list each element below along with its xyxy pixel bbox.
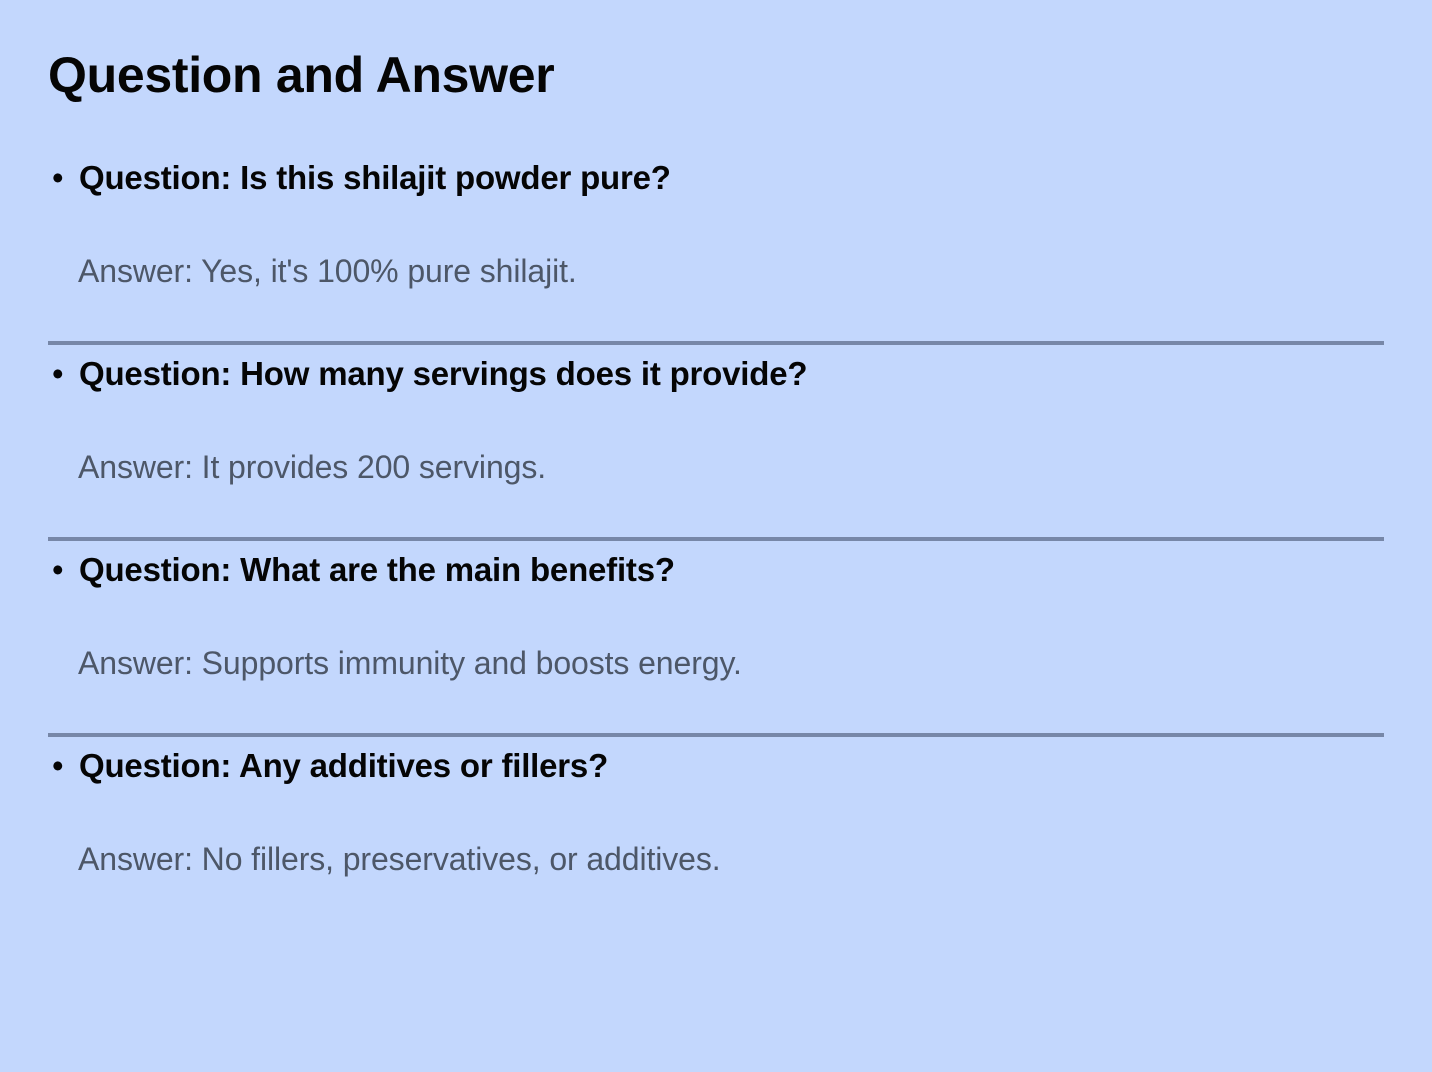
qa-item: • Question: Is this shilajit powder pure… — [48, 149, 1384, 291]
qa-answer-text: Answer: No fillers, preservatives, or ad… — [78, 839, 1384, 879]
qa-question-row: • Question: Is this shilajit powder pure… — [48, 149, 1384, 198]
qa-item: • Question: Any additives or fillers? An… — [48, 733, 1384, 879]
qa-question-row: • Question: What are the main benefits? — [48, 541, 1384, 590]
qa-question-text: Question: Any additives or fillers? — [79, 746, 608, 786]
qa-answer-text: Answer: Yes, it's 100% pure shilajit. — [78, 251, 1384, 291]
qa-answer-text: Answer: It provides 200 servings. — [78, 447, 1384, 487]
qa-answer-text: Answer: Supports immunity and boosts ene… — [78, 643, 1384, 683]
bullet-icon: • — [48, 746, 79, 786]
qa-question-row: • Question: Any additives or fillers? — [48, 737, 1384, 786]
qa-question-text: Question: How many servings does it prov… — [79, 354, 807, 394]
qa-question-text: Question: Is this shilajit powder pure? — [79, 158, 671, 198]
bullet-icon: • — [48, 158, 79, 198]
qa-list: • Question: Is this shilajit powder pure… — [48, 149, 1384, 879]
bullet-icon: • — [48, 550, 79, 590]
qa-question-row: • Question: How many servings does it pr… — [48, 345, 1384, 394]
bullet-icon: • — [48, 354, 79, 394]
qa-block: • Question: Is this shilajit powder pure… — [48, 149, 1384, 291]
qa-block: • Question: What are the main benefits? … — [48, 541, 1384, 683]
qa-item: • Question: What are the main benefits? … — [48, 537, 1384, 683]
page-title: Question and Answer — [48, 48, 1384, 103]
qa-block: • Question: Any additives or fillers? An… — [48, 737, 1384, 879]
qa-question-text: Question: What are the main benefits? — [79, 550, 675, 590]
question-and-answer-page: Question and Answer • Question: Is this … — [0, 0, 1432, 1072]
qa-block: • Question: How many servings does it pr… — [48, 345, 1384, 487]
qa-item: • Question: How many servings does it pr… — [48, 341, 1384, 487]
